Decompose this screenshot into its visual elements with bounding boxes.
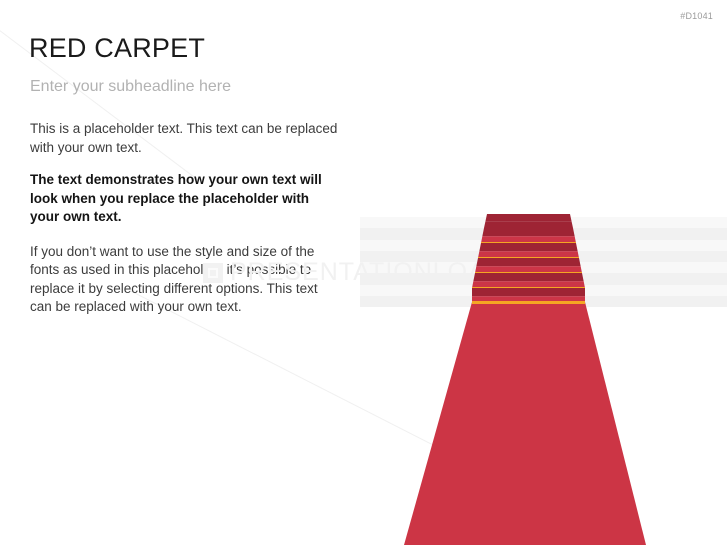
stage-stripe bbox=[360, 240, 727, 251]
page-subtitle[interactable]: Enter your subheadline here bbox=[30, 76, 231, 98]
carpet-runner bbox=[404, 302, 646, 545]
slide-canvas: #D1041 RED CARPET Enter your subheadline… bbox=[0, 0, 727, 545]
stage-stripe bbox=[360, 296, 727, 307]
stage-backdrop-stripes bbox=[360, 217, 727, 307]
stage-stripe bbox=[360, 273, 727, 284]
body-paragraph-1[interactable]: This is a placeholder text. This text ca… bbox=[30, 120, 342, 157]
stage-stripe bbox=[360, 228, 727, 239]
decorative-diagonal-line-bottom bbox=[130, 290, 727, 545]
stage-stripe bbox=[360, 217, 727, 228]
stage-stripe bbox=[360, 262, 727, 273]
body-text-column: This is a placeholder text. This text ca… bbox=[30, 120, 342, 317]
stage-stripe bbox=[360, 285, 727, 296]
stage-stripe bbox=[360, 251, 727, 262]
slide-id-label: #D1041 bbox=[680, 11, 713, 21]
page-title[interactable]: RED CARPET bbox=[29, 32, 205, 64]
body-paragraph-2[interactable]: The text demonstrates how your own text … bbox=[30, 171, 342, 227]
body-paragraph-3[interactable]: If you don’t want to use the style and s… bbox=[30, 243, 342, 317]
